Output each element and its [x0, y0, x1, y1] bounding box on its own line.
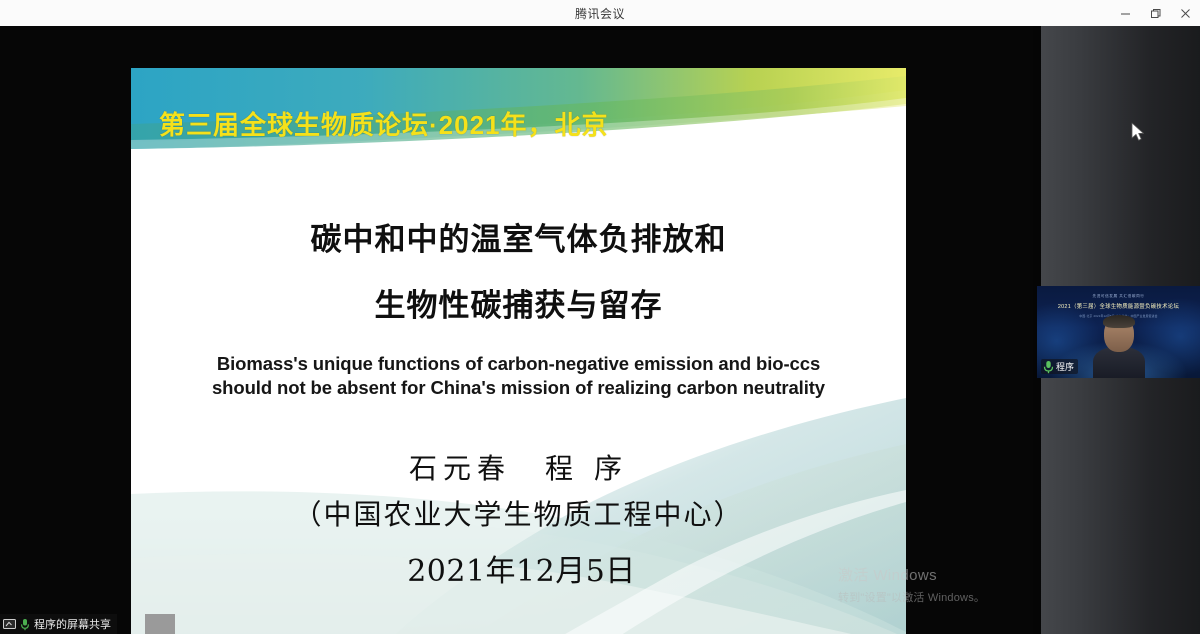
slide-title-cn-line1: 碳中和中的温室气体负排放和	[131, 214, 906, 259]
backdrop-text-line2: 2021（第三届）全球生物质能源暨负碳技术论坛	[1037, 302, 1200, 310]
close-icon	[1180, 8, 1191, 19]
backdrop-text-line1: 先进可信发展 共汇低碳同行	[1037, 294, 1200, 299]
restore-icon	[1150, 8, 1161, 19]
window-title: 腾讯会议	[0, 5, 1200, 22]
participant-name-badge: 程序	[1041, 359, 1078, 374]
microphone-icon	[1043, 360, 1054, 374]
screen-share-indicator[interactable]: 程序的屏幕共享	[0, 614, 117, 634]
participant-name: 程序	[1056, 360, 1074, 373]
slide-text-content: 碳中和中的温室气体负排放和 生物性碳捕获与留存 Biomass's unique…	[131, 68, 906, 634]
tencent-meeting-window: 腾讯会议	[0, 0, 1200, 634]
avatar-hair	[1103, 315, 1135, 328]
window-controls	[1110, 0, 1200, 26]
shared-screen-stage: 第三届全球生物质论坛·2021年，北京	[0, 26, 1033, 634]
restore-button[interactable]	[1140, 0, 1170, 26]
window-titlebar: 腾讯会议	[0, 0, 1200, 27]
minimize-button[interactable]	[1110, 0, 1140, 26]
share-indicator-label: 程序的屏幕共享	[34, 616, 111, 632]
presentation-slide: 第三届全球生物质论坛·2021年，北京	[131, 68, 906, 634]
microphone-icon	[20, 618, 30, 631]
slide-subtitle-en-line2: should not be absent for China's mission…	[131, 377, 906, 399]
participant-avatar	[1092, 316, 1146, 378]
slide-affiliation: （中国农业大学生物质工程中心）	[131, 493, 906, 533]
monitor-icon	[3, 619, 16, 630]
slide-authors: 石元春 程 序	[131, 447, 906, 487]
slide-subtitle-en-line1: Biomass's unique functions of carbon-neg…	[131, 353, 906, 375]
minimize-icon	[1120, 8, 1131, 19]
share-bar-edge	[145, 614, 175, 634]
slide-title-cn-line2: 生物性碳捕获与留存	[131, 280, 906, 325]
participant-video-tile[interactable]: 先进可信发展 共汇低碳同行 2021（第三届）全球生物质能源暨负碳技术论坛 中国…	[1037, 286, 1200, 378]
close-button[interactable]	[1170, 0, 1200, 26]
slide-date: 2021年12月5日	[131, 546, 906, 590]
